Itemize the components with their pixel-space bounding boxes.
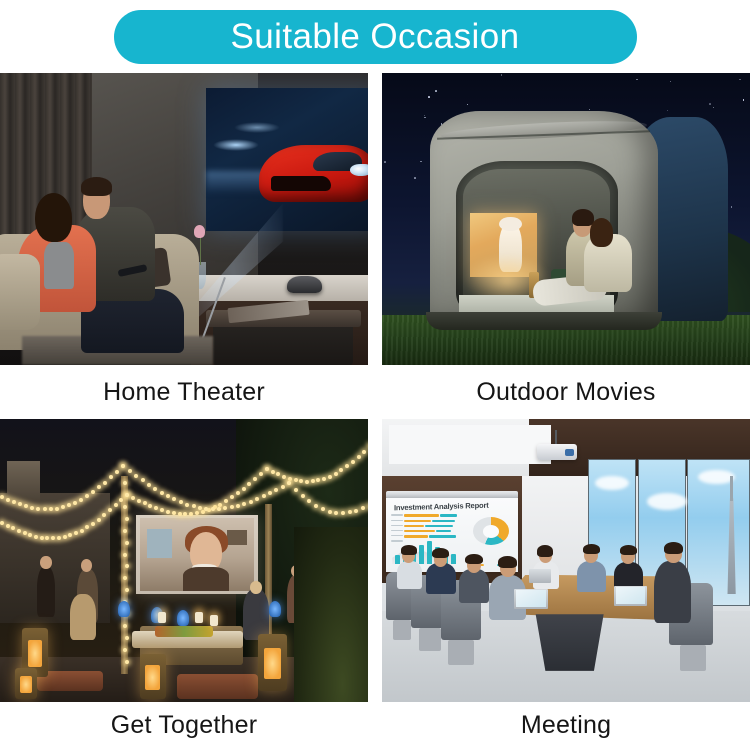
get-together-scene	[0, 419, 368, 702]
photo-home-theater	[0, 73, 368, 365]
photo-outdoor-movies	[382, 73, 750, 365]
caption-text: Outdoor Movies	[476, 380, 655, 405]
caption-text: Meeting	[521, 713, 611, 738]
caption-home-theater: Home Theater	[0, 365, 368, 419]
photo-get-together	[0, 419, 368, 702]
lantern	[258, 634, 287, 691]
grid-gutter	[368, 365, 382, 419]
caption-meeting: Meeting	[382, 702, 750, 749]
slide-title: Investment Analysis Report	[394, 501, 489, 513]
caption-text: Home Theater	[103, 380, 265, 405]
outdoor-movies-scene	[382, 73, 750, 365]
pie-chart	[473, 517, 509, 545]
grid-gutter	[368, 73, 382, 365]
ceiling-projector	[537, 444, 577, 460]
home-theater-scene	[0, 73, 368, 365]
header-pill: Suitable Occasion	[114, 10, 637, 64]
caption-text: Get Together	[111, 713, 257, 738]
lantern	[15, 668, 37, 699]
page-title: Suitable Occasion	[231, 19, 520, 54]
caption-get-together: Get Together	[0, 702, 368, 749]
outdoor-projection-screen	[136, 515, 257, 594]
speaker-device	[287, 276, 322, 294]
grid-gutter	[368, 419, 382, 702]
lantern	[140, 654, 166, 699]
laptop	[529, 569, 551, 583]
header-banner: Suitable Occasion	[0, 0, 750, 73]
caption-outdoor-movies: Outdoor Movies	[382, 365, 750, 419]
projected-image-car	[206, 88, 368, 231]
grid-gutter	[368, 702, 382, 749]
occasion-grid: Home Theater Outdoor Movies	[0, 73, 750, 750]
meeting-scene: Investment Analysis Report	[382, 419, 750, 702]
food-platter	[155, 626, 214, 637]
photo-meeting: Investment Analysis Report	[382, 419, 750, 702]
